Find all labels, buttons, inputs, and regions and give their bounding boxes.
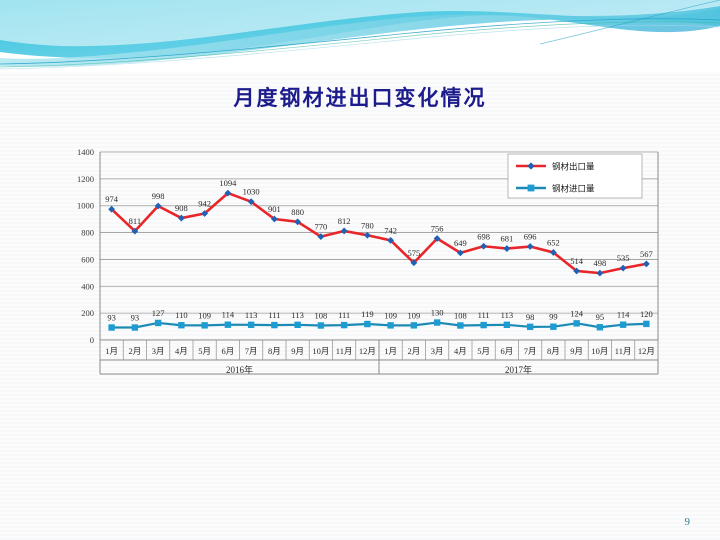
svg-text:113: 113 xyxy=(245,310,257,320)
svg-text:2016年: 2016年 xyxy=(226,364,253,375)
svg-text:11月: 11月 xyxy=(336,346,353,356)
svg-text:130: 130 xyxy=(431,308,444,318)
svg-text:钢材进口量: 钢材进口量 xyxy=(552,184,595,195)
decorative-header-banner xyxy=(0,0,720,72)
svg-text:12月: 12月 xyxy=(638,346,655,356)
svg-text:2月: 2月 xyxy=(407,346,420,356)
svg-text:649: 649 xyxy=(454,238,467,248)
svg-text:93: 93 xyxy=(107,313,116,323)
line-chart: 02004006008001000120014001月2月3月4月5月6月7月8… xyxy=(0,140,720,390)
svg-text:114: 114 xyxy=(617,310,630,320)
svg-text:575: 575 xyxy=(408,248,421,258)
svg-text:2月: 2月 xyxy=(128,346,141,356)
svg-text:3月: 3月 xyxy=(431,346,444,356)
svg-text:974: 974 xyxy=(105,194,119,204)
svg-text:1400: 1400 xyxy=(77,147,94,157)
svg-text:780: 780 xyxy=(361,220,374,230)
svg-text:10月: 10月 xyxy=(591,346,608,356)
svg-text:1200: 1200 xyxy=(77,174,94,184)
chart-container: 02004006008001000120014001月2月3月4月5月6月7月8… xyxy=(0,140,720,390)
svg-text:124: 124 xyxy=(570,308,584,318)
svg-text:98: 98 xyxy=(526,312,535,322)
svg-text:1月: 1月 xyxy=(384,346,397,356)
svg-text:742: 742 xyxy=(384,225,397,235)
svg-text:1月: 1月 xyxy=(105,346,118,356)
svg-text:535: 535 xyxy=(617,253,630,263)
svg-text:770: 770 xyxy=(315,222,328,232)
svg-text:113: 113 xyxy=(291,310,303,320)
svg-text:114: 114 xyxy=(222,310,235,320)
svg-text:109: 109 xyxy=(408,310,421,320)
svg-text:93: 93 xyxy=(131,313,140,323)
svg-text:2017年: 2017年 xyxy=(505,364,532,375)
svg-text:钢材出口量: 钢材出口量 xyxy=(552,162,595,173)
svg-text:5月: 5月 xyxy=(477,346,490,356)
svg-text:942: 942 xyxy=(198,199,211,209)
svg-text:4月: 4月 xyxy=(454,346,467,356)
svg-text:6月: 6月 xyxy=(221,346,234,356)
svg-text:514: 514 xyxy=(570,256,584,266)
svg-text:812: 812 xyxy=(338,216,351,226)
svg-text:6月: 6月 xyxy=(500,346,513,356)
svg-text:800: 800 xyxy=(81,228,94,238)
svg-text:9月: 9月 xyxy=(291,346,304,356)
svg-text:111: 111 xyxy=(268,310,280,320)
svg-text:811: 811 xyxy=(129,216,141,226)
svg-text:10月: 10月 xyxy=(312,346,329,356)
svg-text:12月: 12月 xyxy=(359,346,376,356)
svg-text:119: 119 xyxy=(361,309,373,319)
page-title: 月度钢材进出口变化情况 xyxy=(0,82,720,112)
svg-text:111: 111 xyxy=(478,310,490,320)
svg-text:498: 498 xyxy=(594,258,607,268)
svg-text:111: 111 xyxy=(338,310,350,320)
svg-text:200: 200 xyxy=(81,308,94,318)
svg-text:880: 880 xyxy=(291,207,304,217)
svg-text:127: 127 xyxy=(152,308,165,318)
svg-text:998: 998 xyxy=(152,191,165,201)
svg-text:109: 109 xyxy=(198,310,211,320)
svg-text:7月: 7月 xyxy=(245,346,258,356)
svg-text:400: 400 xyxy=(81,281,94,291)
svg-text:110: 110 xyxy=(175,310,187,320)
svg-text:9月: 9月 xyxy=(570,346,583,356)
svg-text:120: 120 xyxy=(640,309,653,319)
svg-text:3月: 3月 xyxy=(152,346,165,356)
svg-text:11月: 11月 xyxy=(615,346,632,356)
svg-text:901: 901 xyxy=(268,204,281,214)
svg-text:108: 108 xyxy=(454,310,467,320)
svg-text:600: 600 xyxy=(81,254,94,264)
svg-text:1000: 1000 xyxy=(77,201,94,211)
svg-text:99: 99 xyxy=(549,312,558,322)
svg-text:1030: 1030 xyxy=(243,187,260,197)
svg-text:756: 756 xyxy=(431,223,444,233)
svg-text:698: 698 xyxy=(477,231,490,241)
page-number: 9 xyxy=(685,516,691,528)
svg-text:0: 0 xyxy=(90,335,94,345)
svg-text:7月: 7月 xyxy=(524,346,537,356)
svg-text:567: 567 xyxy=(640,249,653,259)
svg-text:113: 113 xyxy=(501,310,513,320)
svg-text:95: 95 xyxy=(596,312,605,322)
svg-text:696: 696 xyxy=(524,232,537,242)
svg-text:1094: 1094 xyxy=(219,178,237,188)
svg-text:108: 108 xyxy=(315,310,328,320)
svg-text:109: 109 xyxy=(384,310,397,320)
svg-text:4月: 4月 xyxy=(175,346,188,356)
svg-text:8月: 8月 xyxy=(268,346,281,356)
slide: 月度钢材进出口变化情况 02004006008001000120014001月2… xyxy=(0,0,720,540)
svg-text:908: 908 xyxy=(175,203,188,213)
svg-text:8月: 8月 xyxy=(547,346,560,356)
svg-text:681: 681 xyxy=(501,234,514,244)
svg-text:652: 652 xyxy=(547,237,560,247)
svg-text:5月: 5月 xyxy=(198,346,211,356)
